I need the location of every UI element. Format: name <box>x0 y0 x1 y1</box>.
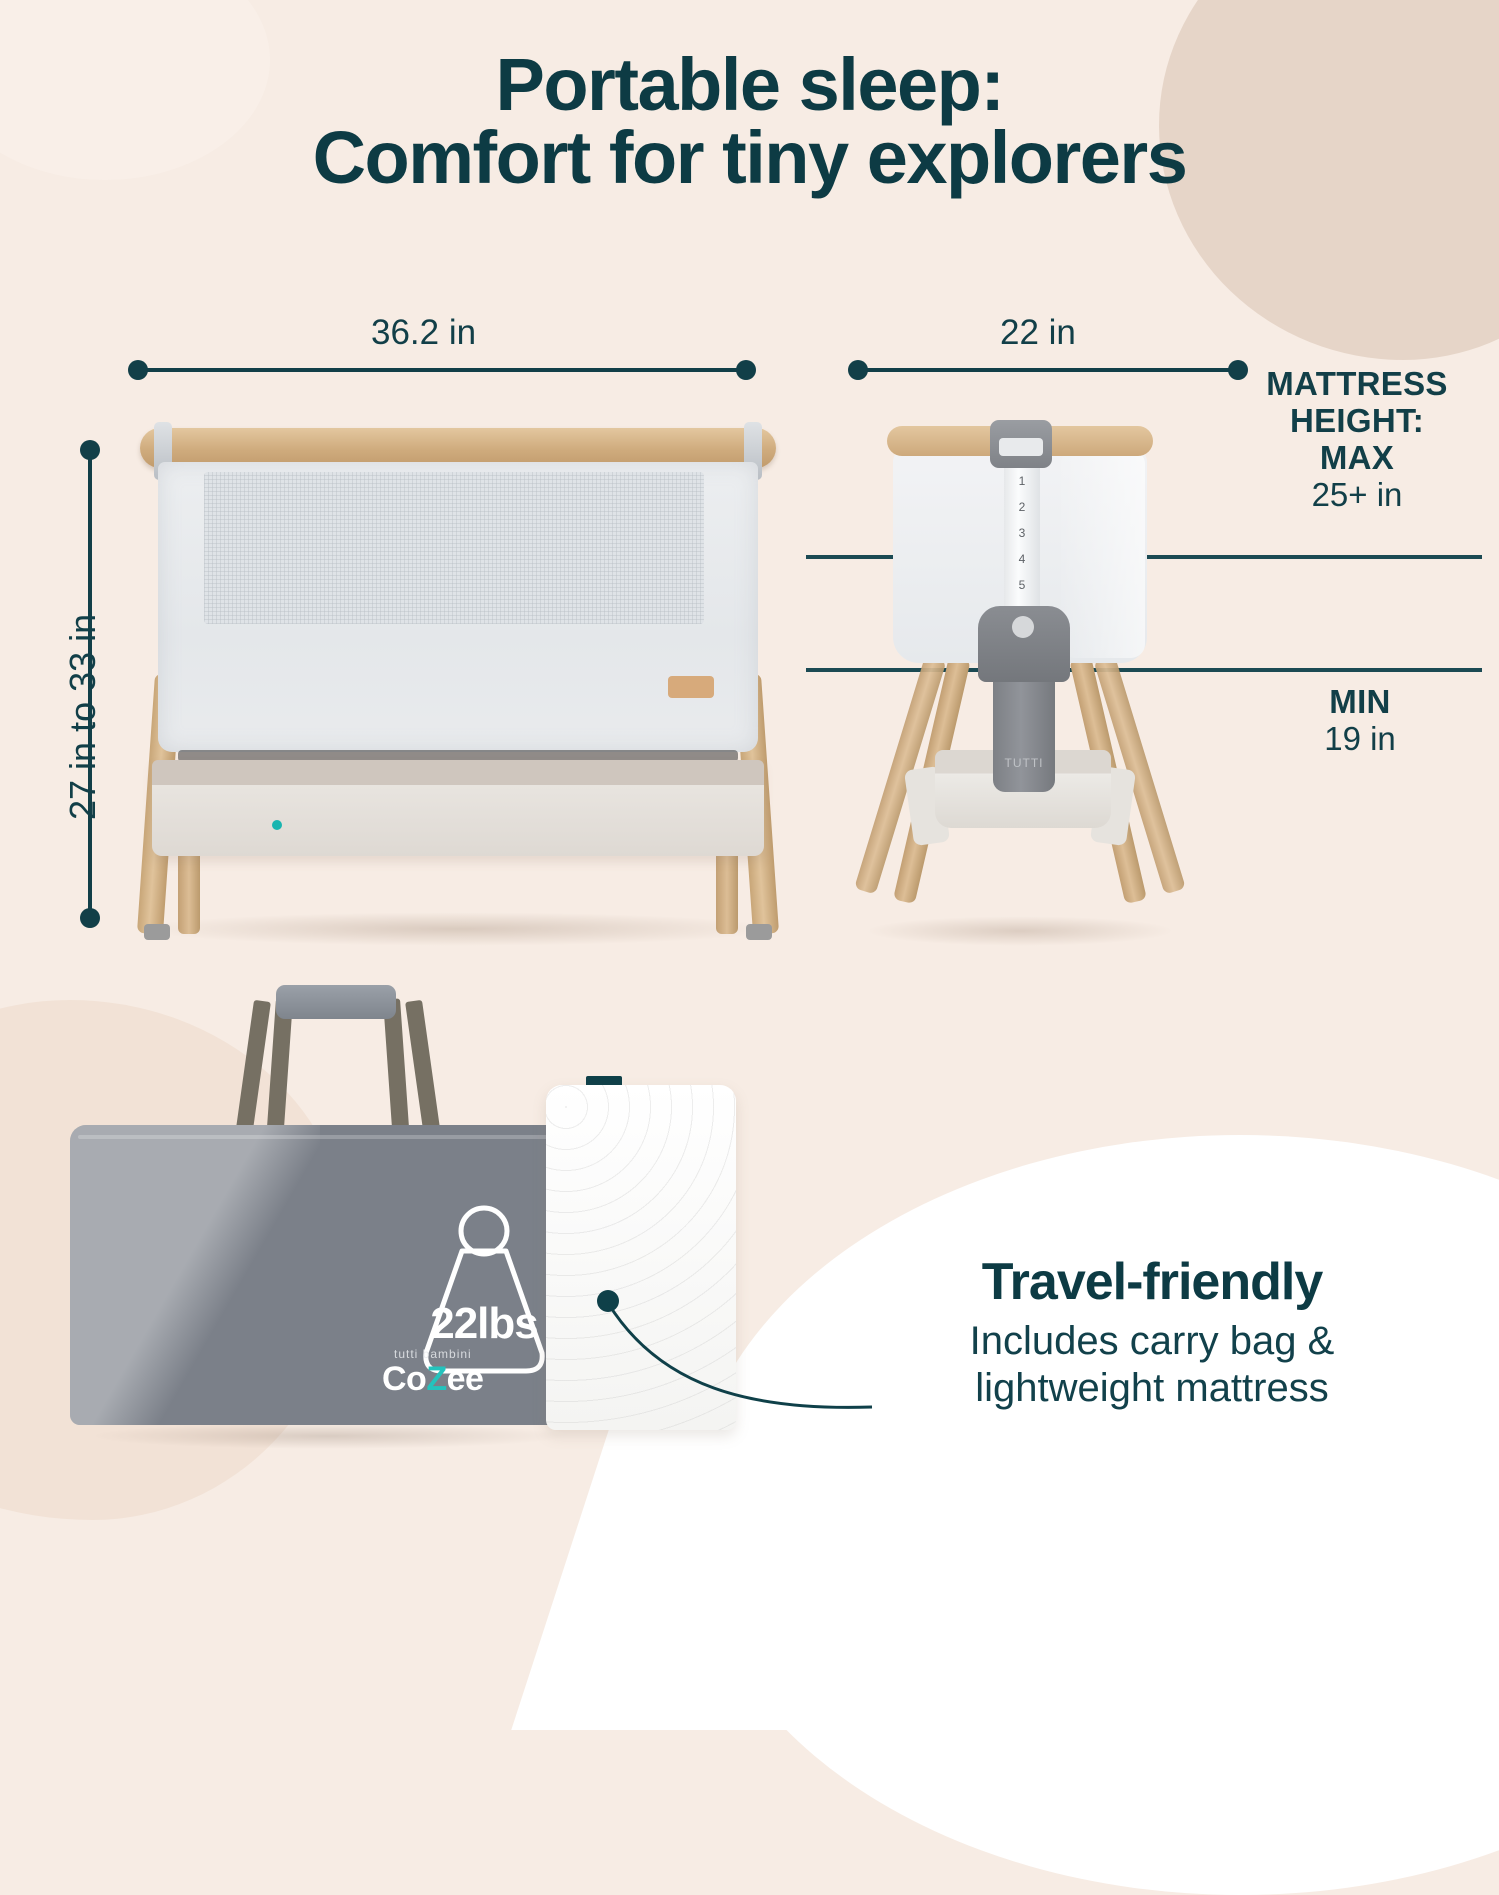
brand-prefix: Co <box>382 1360 426 1398</box>
crib-front-shadow <box>138 912 778 946</box>
crib-front-mesh-window <box>204 472 704 624</box>
crib-side-adjust-button <box>1012 616 1034 638</box>
travel-friendly-block: Travel-friendly Includes carry bag & lig… <box>862 1255 1442 1412</box>
depth-dimension-line <box>856 368 1244 372</box>
depth-dimension-dot-right <box>1228 360 1248 380</box>
height-dimension-dot-top <box>80 440 100 460</box>
travel-friendly-description: Includes carry bag & lightweight mattres… <box>862 1318 1442 1412</box>
mattress-height-title-line-2: HEIGHT: <box>1252 403 1462 440</box>
crib-front-storage-basket <box>152 760 764 856</box>
mattress-height-max-value: 25+ in <box>1252 477 1462 514</box>
scale-mark-2: 2 <box>1004 494 1040 520</box>
mattress-height-min-value: 19 in <box>1270 721 1450 758</box>
headline-line-2: Comfort for tiny explorers <box>0 121 1499 194</box>
weight-value: 22lbs <box>404 1299 564 1349</box>
crib-front-brand-tab <box>668 676 714 698</box>
width-dimension-dot-left <box>128 360 148 380</box>
width-dimension-label: 36.2 in <box>371 313 476 353</box>
crib-front-foot-left <box>144 924 170 940</box>
carry-bag-image: 22lbs tutti bambini CoZee <box>48 985 608 1445</box>
mattress-height-title-line-1: MATTRESS <box>1252 366 1462 403</box>
leader-line <box>600 1295 880 1435</box>
brand-accent: Z <box>426 1360 446 1398</box>
carry-bag-shadow <box>88 1423 568 1449</box>
scale-mark-1: 1 <box>1004 468 1040 494</box>
mattress-height-max-block: MATTRESS HEIGHT: MAX 25+ in <box>1252 366 1462 514</box>
scale-mark-4: 4 <box>1004 546 1040 572</box>
width-dimension-line <box>136 368 752 372</box>
crib-side-mesh-sheen <box>1061 450 1145 658</box>
crib-front-view-image <box>118 420 798 940</box>
carry-bag-handle-pad <box>276 985 396 1019</box>
brand-suffix: ee <box>447 1360 484 1398</box>
crib-side-view-image: TUTTI 1 2 3 4 5 6 <box>865 420 1175 940</box>
width-dimension-dot-right <box>736 360 756 380</box>
travel-desc-line-2: lightweight mattress <box>975 1366 1328 1410</box>
depth-dimension-label: 22 in <box>1000 313 1076 353</box>
scale-mark-5: 5 <box>1004 572 1040 598</box>
height-dimension-dot-bottom <box>80 908 100 928</box>
crib-side-center-stem <box>993 670 1055 792</box>
carry-bag-highlight <box>70 1125 320 1425</box>
height-dimension-label: 27 in to 33 in <box>62 614 104 820</box>
page-title: Portable sleep: Comfort for tiny explore… <box>0 48 1499 195</box>
crib-front-foot-right <box>746 924 772 940</box>
carry-bag-brand-logo: CoZee <box>382 1360 483 1399</box>
crib-side-stem-brand: TUTTI <box>993 756 1055 770</box>
crib-side-height-scale: 1 2 3 4 5 6 <box>1004 468 1040 626</box>
crib-front-fabric-panel <box>158 462 758 752</box>
infographic-canvas: Portable sleep: Comfort for tiny explore… <box>0 0 1499 1500</box>
mattress-height-min-block: MIN 19 in <box>1270 684 1450 758</box>
crib-side-clip-slot <box>999 438 1043 456</box>
crib-side-shadow <box>865 916 1175 946</box>
background-white-circle <box>690 1135 1499 1895</box>
travel-desc-line-1: Includes carry bag & <box>970 1319 1335 1363</box>
carry-bag-brand-sup: tutti bambini <box>394 1347 472 1361</box>
mattress-height-min-label: MIN <box>1270 684 1450 721</box>
travel-friendly-title: Travel-friendly <box>862 1255 1442 1310</box>
headline-line-1: Portable sleep: <box>495 43 1003 126</box>
scale-mark-3: 3 <box>1004 520 1040 546</box>
mattress-height-max-label: MAX <box>1252 440 1462 477</box>
depth-dimension-dot-left <box>848 360 868 380</box>
crib-front-basket-accent-dot <box>272 820 282 830</box>
